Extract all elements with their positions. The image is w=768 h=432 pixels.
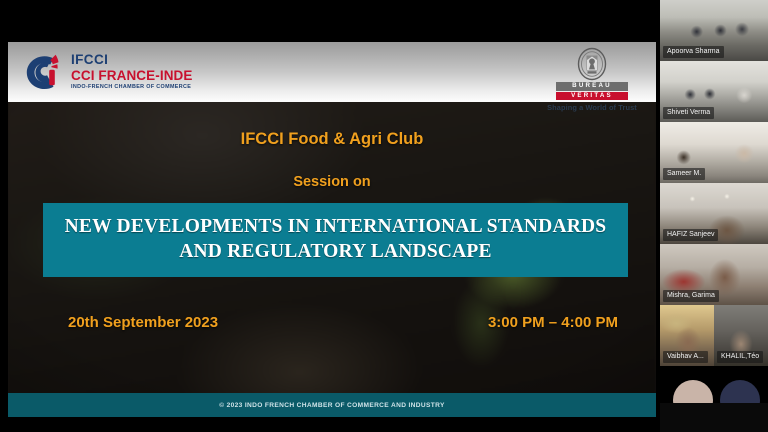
participant-tile-sameer-m[interactable]: Sameer M. [660,122,768,183]
presentation-slide: IFCCI CCI FRANCE-INDE INDO-FRENCH CHAMBE… [8,42,656,417]
slide-logo-bar: IFCCI CCI FRANCE-INDE INDO-FRENCH CHAMBE… [8,42,656,102]
bureau-veritas-word-bureau: BUREAU [556,82,628,91]
slide-title-line1: NEW DEVELOPMENTS IN INTERNATIONAL STANDA… [53,214,618,239]
participant-name-label: HAFIZ Sanjeev [663,229,718,241]
participant-tile-row-split: Vaibhav A... KHALIL,Téo [660,305,768,366]
participant-tile-khalil-teo[interactable]: KHALIL,Téo [714,305,768,366]
participant-name-label: Apoorva Sharma [663,46,724,58]
ifcci-logo: IFCCI CCI FRANCE-INDE INDO-FRENCH CHAMBE… [24,53,193,91]
participant-name-label: KHALIL,Téo [717,351,763,363]
slide-session-line: Session on [8,174,656,190]
meeting-screen: IFCCI CCI FRANCE-INDE INDO-FRENCH CHAMBE… [0,0,768,432]
shared-content-region[interactable]: IFCCI CCI FRANCE-INDE INDO-FRENCH CHAMBE… [0,0,660,432]
slide-time: 3:00 PM – 4:00 PM [488,314,618,331]
slide-title-line2: AND REGULATORY LANDSCAPE [53,239,618,264]
ifcci-logo-line3: INDO-FRENCH CHAMBER OF COMMERCE [71,85,193,90]
participant-tile-apoorva-sharma[interactable]: Apoorva Sharma [660,0,768,61]
avatar[interactable] [720,380,760,403]
bureau-veritas-seal-icon [575,47,609,81]
ifcci-logo-mark [24,53,64,91]
participant-name-label: Sameer M. [663,168,705,180]
bureau-veritas-tagline: Shaping a World of Trust [544,103,640,112]
participant-name-label: Vaibhav A... [663,351,708,363]
ifcci-logo-wordmark: IFCCI CCI FRANCE-INDE INDO-FRENCH CHAMBE… [71,53,193,90]
slide-footer-bar: © 2023 INDO FRENCH CHAMBER OF COMMERCE A… [8,393,656,417]
participant-tile-vaibhav-a[interactable]: Vaibhav A... [660,305,714,366]
ifcci-logo-line1: IFCCI [71,53,193,67]
avatar[interactable] [673,380,713,403]
slide-copyright: © 2023 INDO FRENCH CHAMBER OF COMMERCE A… [219,402,445,409]
bureau-veritas-word-veritas: VERITAS [556,92,628,101]
participant-filmstrip[interactable]: Apoorva Sharma Shiveti Verma Sameer M. H… [660,0,768,432]
slide-title-banner: NEW DEVELOPMENTS IN INTERNATIONAL STANDA… [43,203,628,277]
slide-date-time-row: 20th September 2023 3:00 PM – 4:00 PM [68,314,618,331]
participant-name-label: Mishra, Garima [663,290,719,302]
slide-date: 20th September 2023 [68,314,218,331]
slide-club-line: IFCCI Food & Agri Club [8,130,656,149]
participant-name-label: Shiveti Verma [663,107,714,119]
participant-tile-hafiz-sanjeev[interactable]: HAFIZ Sanjeev [660,183,768,244]
participant-avatar-row[interactable] [660,366,768,403]
bureau-veritas-logo: BUREAU VERITAS Shaping a World of Trust [544,47,640,112]
participant-tile-shiveti-verma[interactable]: Shiveti Verma [660,61,768,122]
ifcci-logo-line2: CCI FRANCE-INDE [71,69,193,83]
participant-tile-mishra-garima[interactable]: Mishra, Garima [660,244,768,305]
